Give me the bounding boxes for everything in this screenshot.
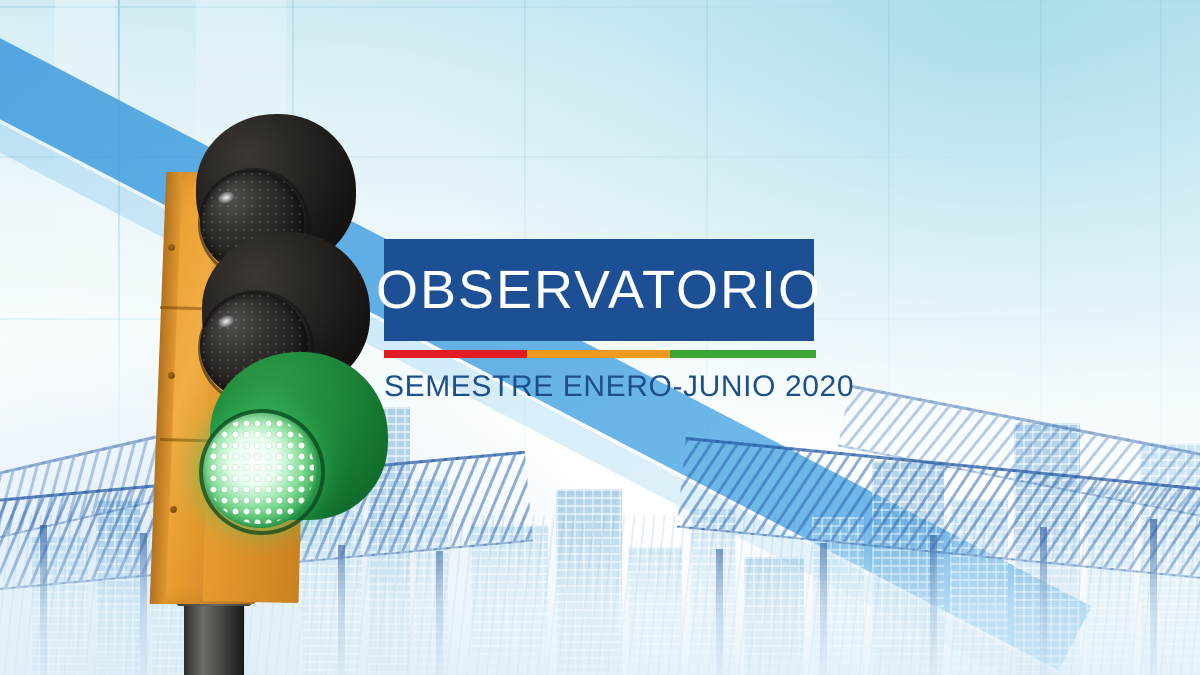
accent-bar-segment-orange [527, 350, 671, 358]
glass-panel-highlight [55, 0, 115, 440]
page-subtitle: SEMESTRE ENERO-JUNIO 2020 [384, 370, 854, 404]
poster-canvas: OBSERVATORIO SEMESTRE ENERO-JUNIO 2020 [0, 0, 1200, 675]
traffic-light-pole [184, 598, 244, 675]
accent-bar-segment-green [670, 350, 816, 358]
accent-bar [384, 350, 816, 358]
housing-screw [168, 372, 175, 379]
glass-mullion-horizontal [0, 6, 1200, 8]
traffic-light-lamp-rim-bottom [199, 409, 325, 535]
traffic-light [148, 110, 358, 675]
title-block: OBSERVATORIO SEMESTRE ENERO-JUNIO 2020 [384, 239, 854, 404]
title-banner: OBSERVATORIO [384, 239, 814, 341]
accent-bar-segment-red [384, 350, 527, 358]
housing-screw [168, 244, 175, 251]
housing-screw [170, 506, 177, 513]
page-title: OBSERVATORIO [376, 263, 822, 317]
